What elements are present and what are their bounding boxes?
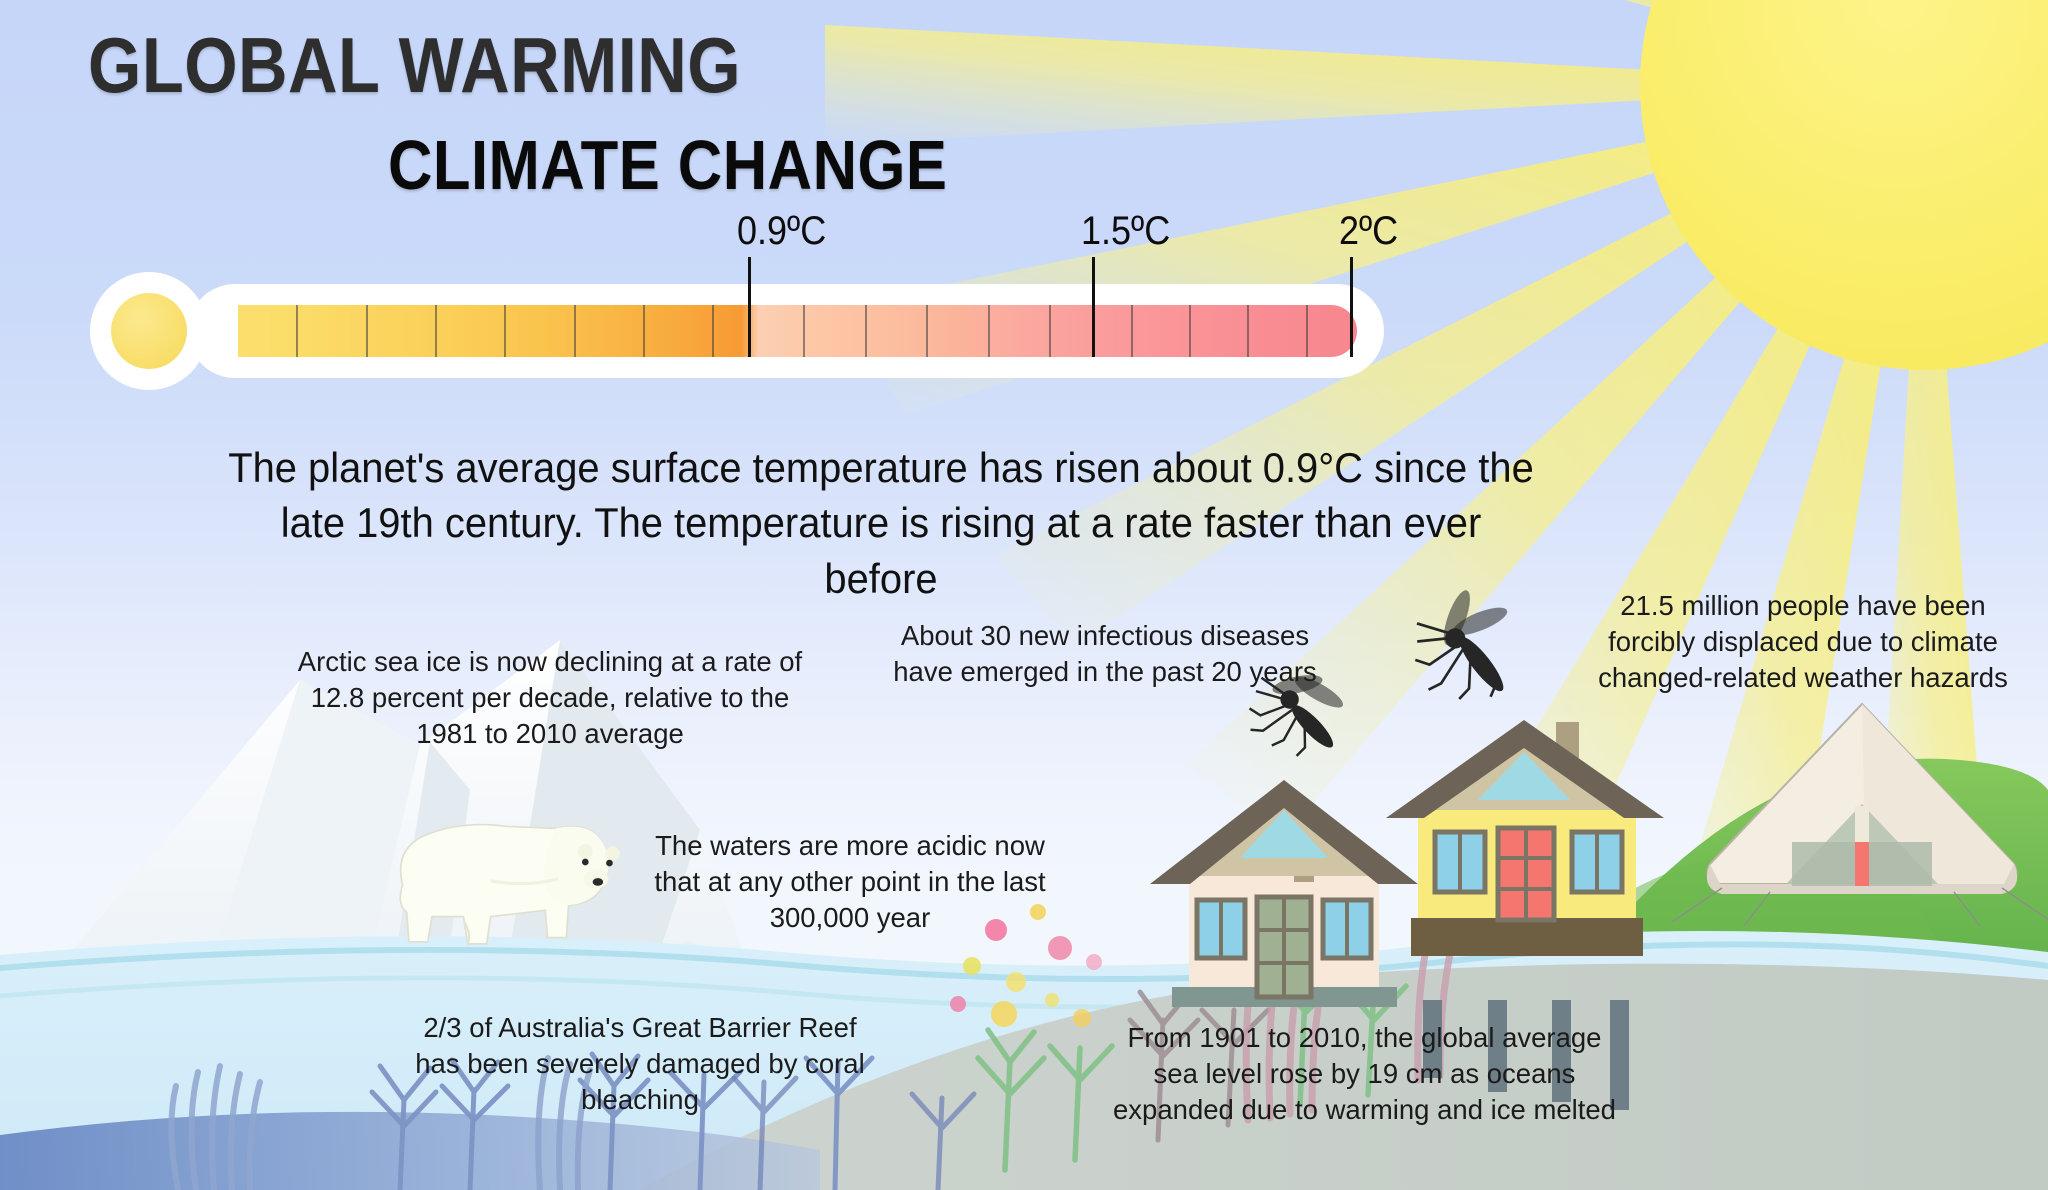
thermometer-ticks: 0.9ºC 1.5ºC 2ºC	[238, 305, 1357, 357]
caption-infectious-disease: About 30 new infectious diseases have em…	[880, 618, 1330, 690]
thermometer-bulb	[111, 293, 187, 369]
poster-title: GLOBAL WARMING CLIMATE CHANGE	[88, 26, 1024, 200]
caption-sea-level-rise: From 1901 to 2010, the global average se…	[1112, 1020, 1617, 1127]
title-line-2: CLIMATE CHANGE	[388, 130, 947, 200]
caption-arctic-sea-ice: Arctic sea ice is now declining at a rat…	[290, 644, 810, 751]
thermometer-tick-2-0	[1350, 257, 1353, 357]
lede-paragraph: The planet's average surface temperature…	[221, 440, 1542, 606]
thermometer-label-0-9: 0.9ºC	[737, 209, 826, 254]
caption-displaced-people: 21.5 million people have been forcibly d…	[1588, 588, 2018, 695]
temperature-thermometer[interactable]: 0.9ºC 1.5ºC 2ºC	[48, 272, 1348, 390]
thermometer-tick-0-9	[748, 257, 751, 357]
infographic-poster: GLOBAL WARMING CLIMATE CHANGE 0.9ºC 1.5º…	[0, 0, 2048, 1190]
thermometer-label-1-5: 1.5ºC	[1081, 209, 1170, 254]
title-line-1: GLOBAL WARMING	[88, 26, 911, 104]
thermometer-tick-1-5	[1092, 257, 1095, 357]
caption-coral-bleaching: 2/3 of Australia's Great Barrier Reef ha…	[400, 1010, 880, 1117]
thermometer-label-2-0: 2ºC	[1339, 209, 1398, 254]
caption-ocean-acidity: The waters are more acidic now that at a…	[640, 828, 1060, 935]
